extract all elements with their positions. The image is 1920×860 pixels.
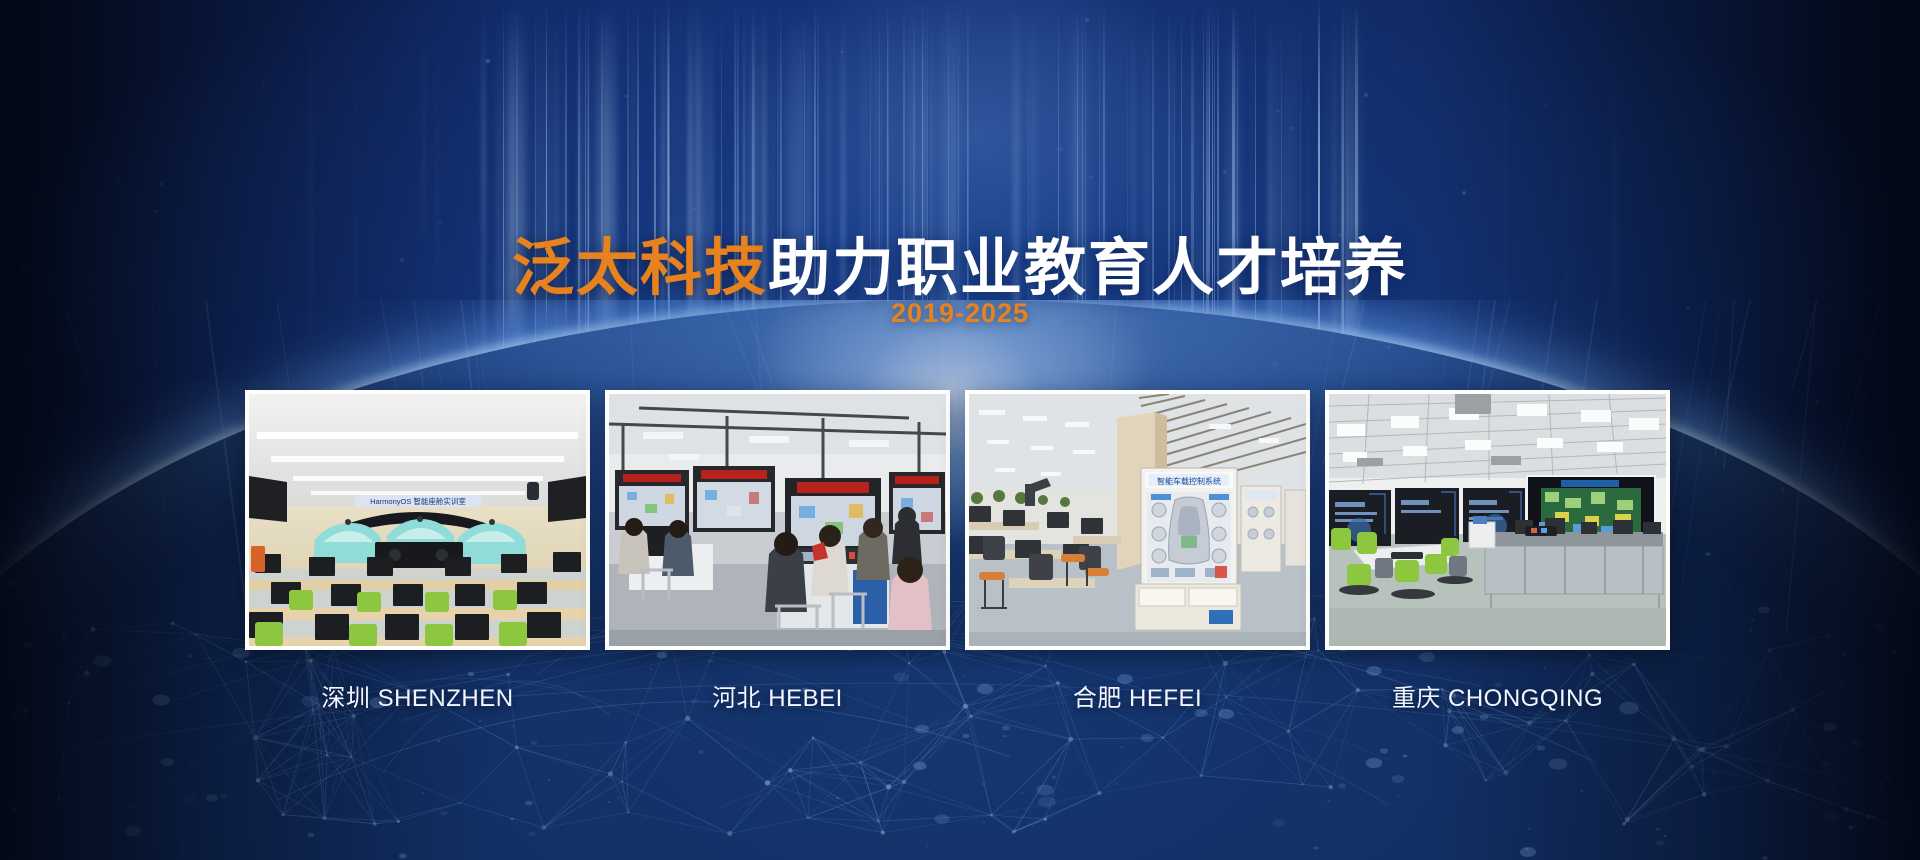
svg-text:智能车载控制系统: 智能车载控制系统	[1157, 476, 1221, 486]
hero-banner: 泛太科技助力职业教育人才培养 2019-2025	[0, 0, 1920, 860]
svg-text:HarmonyOS 智能座舱实训室: HarmonyOS 智能座舱实训室	[370, 496, 466, 506]
title-subtitle-years: 2019-2025	[0, 298, 1920, 329]
gallery-card[interactable]	[1325, 390, 1670, 650]
caption-shenzhen: 深圳 SHENZHEN	[245, 678, 590, 718]
photo-hefei: 智能车载控制系统	[969, 394, 1306, 646]
photo-gallery: HarmonyOS 智能座舱实训室	[245, 390, 1670, 650]
photo-chongqing	[1329, 394, 1666, 646]
title-brand: 泛太科技	[512, 234, 768, 303]
page-title: 泛太科技助力职业教育人才培养	[0, 238, 1920, 300]
photo-shenzhen: HarmonyOS 智能座舱实训室	[249, 394, 586, 646]
caption-chongqing: 重庆 CHONGQING	[1325, 678, 1670, 718]
gallery-card[interactable]: HarmonyOS 智能座舱实训室	[245, 390, 590, 650]
photo-hebei	[609, 394, 946, 646]
gallery-card[interactable]: 智能车载控制系统	[965, 390, 1310, 650]
caption-hefei: 合肥 HEFEI	[965, 678, 1310, 718]
photo-captions: 深圳 SHENZHEN 河北 HEBEI 合肥 HEFEI 重庆 CHONGQI…	[245, 678, 1670, 718]
gallery-card[interactable]	[605, 390, 950, 650]
title-rest: 助力职业教育人才培养	[768, 234, 1408, 303]
caption-hebei: 河北 HEBEI	[605, 678, 950, 718]
